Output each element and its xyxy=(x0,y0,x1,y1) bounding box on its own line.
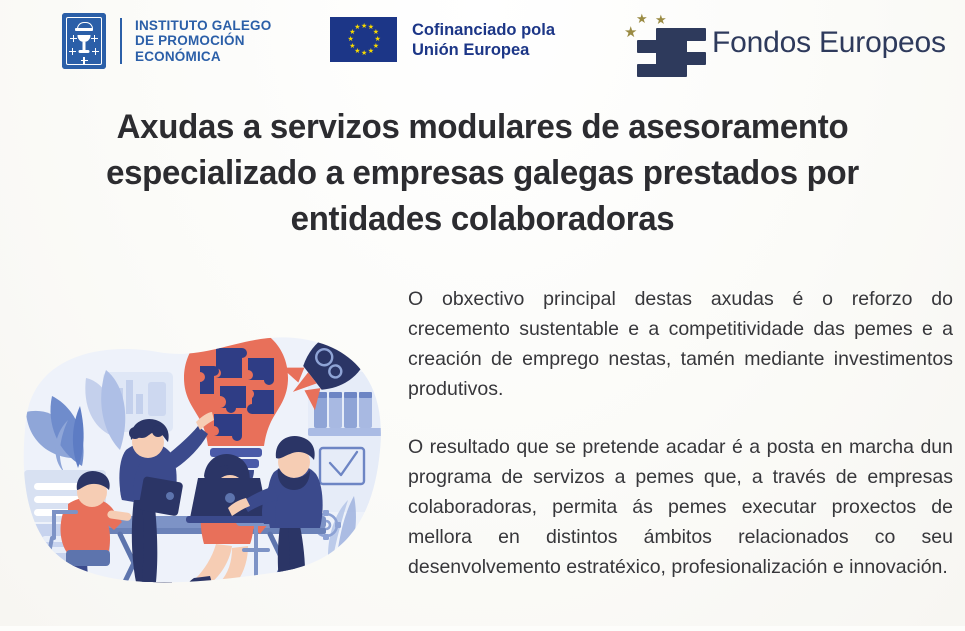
eu-star-icon: ★ xyxy=(361,24,366,29)
eu-star-icon: ★ xyxy=(348,37,353,42)
eu-star-icon: ★ xyxy=(349,30,354,35)
body-paragraph-2: O resultado que se pretende acadar é a p… xyxy=(408,432,953,582)
eu-line-2: Unión Europea xyxy=(412,40,555,60)
crown-icon xyxy=(75,22,93,31)
galicia-coat-of-arms-icon xyxy=(62,13,106,69)
page-title-line-1: Axudas a servizos modulares de asesorame… xyxy=(44,104,922,150)
logo-divider xyxy=(120,18,122,64)
eu-flag-icon: ★★★★★★★★★★★★ xyxy=(330,17,397,62)
eu-star-icon: ★ xyxy=(354,25,359,30)
cross-icon xyxy=(92,48,99,55)
eu-star-icon: ★ xyxy=(375,37,380,42)
team-collaboration-illustration xyxy=(8,300,400,626)
igape-logo: INSTITUTO GALEGO DE PROMOCIÓN ECONÓMICA xyxy=(62,13,271,69)
eu-star-icon: ★ xyxy=(361,51,366,56)
body-paragraph-1: O obxectivo principal destas axudas é o … xyxy=(408,284,953,404)
stairs-and-stars-icon: ★ ★ ★ xyxy=(618,8,706,78)
eu-logo-text: Cofinanciado pola Unión Europea xyxy=(412,20,555,60)
european-union-logo: ★★★★★★★★★★★★ Cofinanciado pola Unión Eur… xyxy=(330,17,555,62)
star-icon: ★ xyxy=(636,12,648,25)
star-icon: ★ xyxy=(624,26,637,39)
eu-star-icon: ★ xyxy=(368,49,373,54)
cross-icon xyxy=(81,57,88,64)
igape-line-2: DE PROMOCIÓN xyxy=(135,33,271,49)
chalice-icon xyxy=(77,35,92,55)
stair-bar xyxy=(637,64,687,77)
fondos-europeos-logo: ★ ★ ★ Fondos Europeos xyxy=(618,8,946,78)
cross-icon xyxy=(69,48,76,55)
fondos-europeos-label: Fondos Europeos xyxy=(712,26,946,60)
igape-line-3: ECONÓMICA xyxy=(135,49,271,65)
star-icon: ★ xyxy=(655,13,667,26)
eu-star-icon: ★ xyxy=(373,30,378,35)
page-title: Axudas a servizos modulares de asesorame… xyxy=(44,104,922,242)
igape-logo-text: INSTITUTO GALEGO DE PROMOCIÓN ECONÓMICA xyxy=(135,18,271,65)
body-text-column: O obxectivo principal destas axudas é o … xyxy=(408,284,953,582)
cross-icon xyxy=(91,35,98,42)
page-title-line-3: entidades colaboradoras xyxy=(44,196,922,242)
logo-bar: INSTITUTO GALEGO DE PROMOCIÓN ECONÓMICA … xyxy=(0,0,965,88)
igape-line-1: INSTITUTO GALEGO xyxy=(135,18,271,34)
eu-line-1: Cofinanciado pola xyxy=(412,20,555,40)
eu-star-icon: ★ xyxy=(349,44,354,49)
cross-icon xyxy=(70,35,77,42)
page-title-line-2: especializado a empresas galegas prestad… xyxy=(44,150,922,196)
